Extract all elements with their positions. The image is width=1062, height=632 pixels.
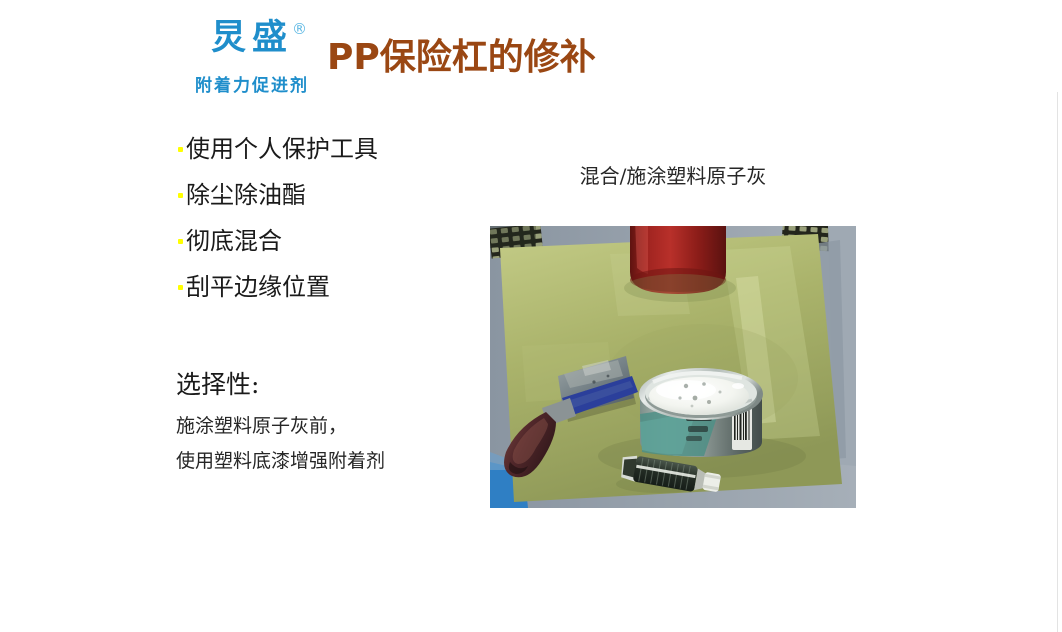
brand-logo: 炅盛 ® 附着力促进剂 [176, 21, 328, 103]
photo-mixing-filler [490, 226, 856, 508]
optional-line: 使用塑料底漆增强附着剂 [176, 452, 516, 471]
list-item: 刮平边缘位置 [178, 275, 478, 321]
list-item-label: 使用个人保护工具 [186, 137, 378, 161]
optional-heading: 选择性: [176, 372, 516, 397]
list-item: 除尘除油酯 [178, 183, 478, 229]
registered-trademark-icon: ® [292, 22, 307, 37]
list-item-label: 除尘除油酯 [186, 183, 306, 207]
bullet-list: 使用个人保护工具 除尘除油酯 彻底混合 刮平边缘位置 [178, 137, 478, 321]
slide-canvas: 炅盛 ® 附着力促进剂 PP保险杠的修补 使用个人保护工具 除尘除油酯 彻底混合… [0, 0, 1062, 632]
bullet-dot-icon [178, 147, 183, 152]
red-can [624, 226, 736, 302]
page-title: PP保险杠的修补 [327, 36, 596, 80]
bullet-dot-icon [178, 285, 183, 290]
brand-tagline: 附着力促进剂 [176, 71, 328, 96]
photo-caption: 混合/施涂塑料原子灰 [490, 160, 856, 189]
bullet-dot-icon [178, 193, 183, 198]
list-item-label: 刮平边缘位置 [186, 275, 330, 299]
optional-section: 选择性: 施涂塑料原子灰前， 使用塑料底漆增强附着剂 [176, 372, 516, 487]
brand-name-cn: 炅盛 [211, 21, 293, 56]
list-item-label: 彻底混合 [186, 229, 282, 253]
list-item: 彻底混合 [178, 229, 478, 275]
optional-line: 施涂塑料原子灰前， [176, 417, 516, 436]
list-item: 使用个人保护工具 [178, 137, 478, 183]
bullet-dot-icon [178, 239, 183, 244]
right-edge-rule [1057, 92, 1058, 632]
